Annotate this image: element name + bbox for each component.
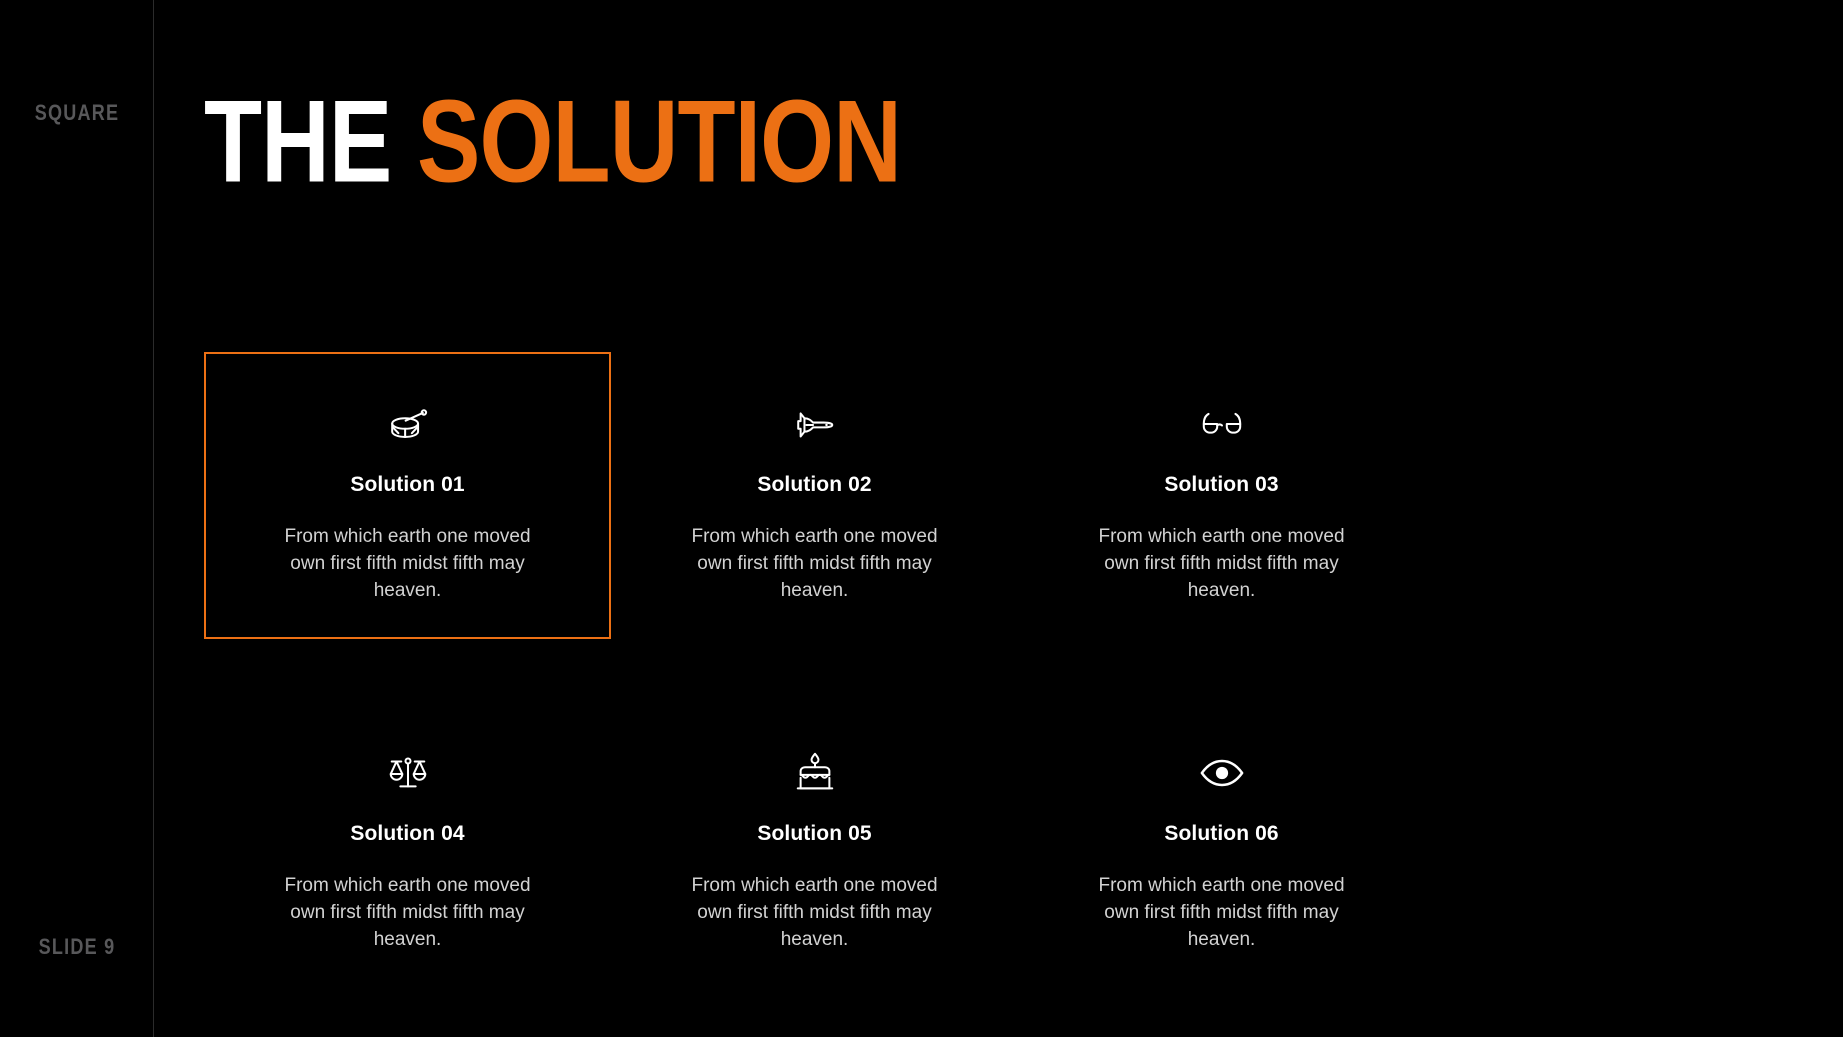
page-title-part-1: THE [204,75,391,206]
page-title: THE SOLUTION [204,83,901,200]
balance-scale-icon [234,747,581,799]
solution-card-02[interactable]: Solution 02 From which earth one moved o… [611,352,1018,639]
solution-row-1: Solution 01 From which earth one moved o… [204,352,1664,639]
left-rail: SQUARE SLIDE 9 [0,0,154,1037]
rail-divider [153,0,154,1037]
solution-card-body: From which earth one moved own first fif… [676,524,954,605]
solution-card-body: From which earth one moved own first fif… [269,524,547,605]
solution-row-2: Solution 04 From which earth one moved o… [204,701,1664,988]
solution-card-title: Solution 01 [234,473,581,497]
solution-card-05[interactable]: Solution 05 From which earth one moved o… [611,701,1018,988]
solution-card-title: Solution 02 [641,473,988,497]
brand-label: SQUARE [14,100,140,126]
space-shuttle-icon [641,398,988,450]
solution-card-title: Solution 06 [1048,822,1395,846]
solution-card-title: Solution 05 [641,822,988,846]
eye-icon [1048,747,1395,799]
solution-card-body: From which earth one moved own first fif… [676,873,954,954]
solution-card-body: From which earth one moved own first fif… [1083,873,1361,954]
drum-icon [234,398,581,450]
solution-grid: Solution 01 From which earth one moved o… [204,352,1664,988]
page-title-part-2: SOLUTION [417,75,901,206]
solution-card-03[interactable]: Solution 03 From which earth one moved o… [1018,352,1425,639]
solution-card-01[interactable]: Solution 01 From which earth one moved o… [204,352,611,639]
solution-card-06[interactable]: Solution 06 From which earth one moved o… [1018,701,1425,988]
eyeglasses-icon [1048,398,1395,450]
birthday-cake-icon [641,747,988,799]
solution-card-title: Solution 03 [1048,473,1395,497]
solution-card-title: Solution 04 [234,822,581,846]
solution-card-body: From which earth one moved own first fif… [1083,524,1361,605]
solution-card-04[interactable]: Solution 04 From which earth one moved o… [204,701,611,988]
solution-card-body: From which earth one moved own first fif… [269,873,547,954]
slide-number-label: SLIDE 9 [14,934,140,960]
